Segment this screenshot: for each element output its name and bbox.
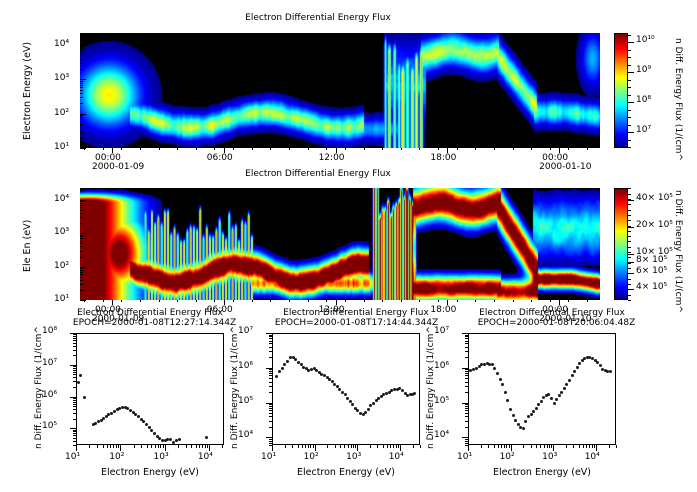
data-point xyxy=(553,402,556,405)
tick-mark xyxy=(80,97,83,98)
tick-mark xyxy=(155,445,156,448)
tick-mark xyxy=(80,87,83,88)
colorbar-tick-label: 10⁸ xyxy=(636,95,651,105)
tick-mark xyxy=(269,369,272,370)
tick-mark xyxy=(73,334,76,335)
tick-mark xyxy=(465,371,468,372)
tick-mark xyxy=(344,445,345,448)
tick-mark xyxy=(207,445,208,448)
tick-mark xyxy=(80,148,86,149)
tick-mark xyxy=(540,445,541,448)
tick-mark xyxy=(80,236,83,237)
tick-mark xyxy=(553,445,554,451)
tick-mark xyxy=(465,351,468,352)
tick-mark xyxy=(475,300,476,302)
tick-mark xyxy=(110,445,111,448)
tick-mark xyxy=(628,72,631,73)
tick-mark xyxy=(628,231,631,232)
tick-mark xyxy=(191,445,192,448)
tick-mark xyxy=(80,93,83,94)
tick-mark xyxy=(513,300,514,302)
tick-mark xyxy=(80,203,83,204)
tick-mark xyxy=(80,235,83,236)
tick-mark xyxy=(80,90,83,91)
data-point xyxy=(512,414,515,417)
data-point xyxy=(501,383,504,386)
data-point xyxy=(499,378,502,381)
tick-mark xyxy=(73,350,76,351)
figure-canvas: Electron Differential Energy Flux Electr… xyxy=(0,0,697,492)
tick-mark xyxy=(383,445,384,448)
tick-mark xyxy=(159,300,160,302)
tick-mark xyxy=(628,241,631,242)
spectrum-xtick-label: 10² xyxy=(109,452,124,462)
tick-mark xyxy=(628,220,631,221)
data-point xyxy=(532,410,535,413)
spectrum-ytick-label: 10⁶ xyxy=(434,361,449,371)
spectrum-epoch-3: EPOCH=2000-01-08T20:06:04.48Z xyxy=(460,318,653,328)
data-point xyxy=(286,360,289,363)
tick-mark xyxy=(84,148,85,150)
spectrum-ytick-label: 10⁷ xyxy=(238,326,253,336)
spectrum-xlabel-3: Electron Energy (eV) xyxy=(462,467,622,478)
tick-mark xyxy=(628,50,631,51)
tick-mark xyxy=(628,284,631,285)
spectrum-xtick-label: 10¹ xyxy=(457,452,472,462)
data-point xyxy=(558,394,561,397)
tick-mark xyxy=(589,445,590,448)
tick-mark xyxy=(80,241,83,242)
tick-mark xyxy=(269,382,272,383)
tick-mark xyxy=(272,445,273,451)
tick-mark xyxy=(465,410,468,411)
tick-mark xyxy=(269,439,272,440)
tick-mark xyxy=(457,148,458,150)
tick-mark xyxy=(113,445,114,448)
tick-mark xyxy=(80,85,83,86)
tick-mark xyxy=(270,300,271,302)
tick-mark xyxy=(579,445,580,448)
tick-mark xyxy=(401,300,402,302)
tick-mark xyxy=(269,343,272,344)
tick-mark xyxy=(628,102,631,103)
tick-mark xyxy=(151,445,152,448)
spectrum-ytick-label: 10⁴ xyxy=(238,430,253,440)
tick-mark xyxy=(196,148,197,150)
tick-mark xyxy=(202,445,203,448)
tick-mark xyxy=(628,257,631,258)
tick-mark xyxy=(80,290,83,291)
colorbar-tick-label: 20× 10⁵ xyxy=(636,220,673,230)
data-point xyxy=(364,411,367,414)
tick-mark xyxy=(465,416,468,417)
tick-mark xyxy=(465,441,468,442)
tick-mark xyxy=(269,392,272,393)
tick-mark xyxy=(628,236,631,237)
tick-mark xyxy=(269,375,272,376)
tick-mark xyxy=(233,148,234,150)
tick-mark xyxy=(269,347,272,348)
tick-mark xyxy=(345,300,346,302)
tick-mark xyxy=(628,132,631,133)
tick-mark xyxy=(73,368,76,369)
data-point xyxy=(599,364,602,367)
tick-mark xyxy=(550,300,551,302)
tick-mark xyxy=(269,410,272,411)
tick-mark xyxy=(345,148,346,150)
tick-mark xyxy=(481,445,482,448)
spectrum-plot-1[interactable] xyxy=(76,333,224,445)
tick-mark xyxy=(513,148,514,150)
data-point xyxy=(281,367,284,370)
colorbar-tick-label: 40× 10⁵ xyxy=(636,193,673,203)
tick-mark xyxy=(269,371,272,372)
tick-mark xyxy=(80,35,83,36)
tick-mark xyxy=(465,357,468,358)
tick-mark xyxy=(353,445,354,448)
panel2-spectrogram[interactable] xyxy=(80,188,600,300)
tick-mark xyxy=(628,35,631,36)
tick-mark xyxy=(269,341,272,342)
tick-mark xyxy=(315,445,316,451)
tick-mark xyxy=(550,148,551,150)
tick-mark xyxy=(494,148,495,150)
tick-mark xyxy=(269,357,272,358)
tick-mark xyxy=(178,445,179,448)
tick-mark xyxy=(310,445,311,448)
tick-label: 10⁴ xyxy=(54,39,69,49)
spectrum-xtick-label: 10⁴ xyxy=(198,452,213,462)
spectrum-ytick-label: 10⁷ xyxy=(434,326,449,336)
panel1-spectrogram[interactable] xyxy=(80,33,600,148)
tick-label: 10¹ xyxy=(54,294,69,304)
tick-mark xyxy=(531,445,532,448)
tick-mark xyxy=(269,421,272,422)
data-point xyxy=(509,408,512,411)
spectrum-plot-3[interactable] xyxy=(468,333,616,445)
tick-mark xyxy=(628,300,631,301)
tick-mark xyxy=(465,373,468,374)
spectrum-xtick-label: 10⁴ xyxy=(585,452,600,462)
tick-mark xyxy=(628,227,634,228)
tick-mark xyxy=(80,268,83,269)
tick-mark xyxy=(465,443,468,444)
tick-mark xyxy=(209,445,210,451)
tick-mark xyxy=(465,408,468,409)
tick-mark xyxy=(465,406,468,407)
tick-mark xyxy=(80,81,83,82)
tick-mark xyxy=(160,445,161,448)
tick-label: 10² xyxy=(54,261,69,271)
panel1-ylabel: Electron Energy (eV) xyxy=(22,42,33,140)
tick-mark xyxy=(364,148,365,150)
tick-mark xyxy=(357,445,358,451)
tick-mark xyxy=(504,445,505,448)
tick-mark xyxy=(80,103,83,104)
tick-mark xyxy=(583,445,584,448)
tick-mark xyxy=(586,445,587,448)
tick-mark xyxy=(80,205,83,206)
tick-mark xyxy=(587,148,588,150)
data-point xyxy=(79,374,82,377)
tick-mark xyxy=(628,199,631,200)
data-point xyxy=(493,367,496,370)
tick-mark xyxy=(269,378,272,379)
tick-mark xyxy=(80,284,83,285)
tick-mark xyxy=(549,445,550,448)
spectrum-ytick-label: 10⁵ xyxy=(42,421,57,431)
tick-mark xyxy=(628,147,631,148)
tick-mark xyxy=(475,148,476,150)
tick-mark xyxy=(80,246,83,247)
spectrum-ytick-label: 10⁸ xyxy=(42,326,57,336)
tick-mark xyxy=(628,65,631,66)
tick-mark xyxy=(364,300,365,302)
data-point xyxy=(514,419,517,422)
tick-mark xyxy=(465,336,468,337)
tick-mark xyxy=(80,280,83,281)
data-point xyxy=(537,403,540,406)
tick-mark xyxy=(628,42,631,43)
tick-mark xyxy=(80,119,83,120)
tick-mark xyxy=(163,445,164,448)
tick-mark xyxy=(628,279,631,280)
tick-mark xyxy=(335,445,336,448)
tick-mark xyxy=(465,421,468,422)
tick-mark xyxy=(523,445,524,448)
tick-mark xyxy=(214,148,215,150)
tick-mark xyxy=(465,382,468,383)
data-point xyxy=(565,383,568,386)
tick-mark xyxy=(134,445,135,448)
tick-mark xyxy=(420,445,421,448)
tick-mark xyxy=(89,445,90,448)
tick-mark xyxy=(73,377,76,378)
tick-mark xyxy=(393,445,394,448)
tick-mark xyxy=(84,300,85,302)
tick-label: 10² xyxy=(54,108,69,118)
colorbar-tick-label: 10⁷ xyxy=(636,125,651,135)
tick-mark xyxy=(462,333,468,334)
tick-mark xyxy=(214,300,215,302)
tick-mark xyxy=(413,445,414,448)
tick-mark xyxy=(270,148,271,150)
tick-mark xyxy=(269,335,272,336)
tick-mark xyxy=(628,252,631,253)
tick-mark xyxy=(465,347,468,348)
tick-mark xyxy=(465,338,468,339)
panel2-colorbar xyxy=(614,188,628,300)
tick-mark xyxy=(73,374,76,375)
time-tick-label: 12:00 xyxy=(319,153,345,163)
tick-mark xyxy=(568,300,569,302)
spectrum-ylabel-1: n Diff. Energy Flux (1/(cm^ xyxy=(34,326,44,449)
tick-mark xyxy=(97,445,98,448)
spectrum-title-1: Electron Differential Energy Flux xyxy=(56,308,244,318)
tick-mark xyxy=(269,338,272,339)
tick-mark xyxy=(628,80,631,81)
tick-mark xyxy=(73,381,76,382)
data-point xyxy=(571,374,574,377)
tick-mark xyxy=(269,336,272,337)
tick-mark xyxy=(252,300,253,302)
tick-mark xyxy=(289,300,290,302)
tick-mark xyxy=(73,430,76,431)
tick-mark xyxy=(628,117,631,118)
data-point xyxy=(576,366,579,369)
data-point xyxy=(573,370,576,373)
data-point xyxy=(568,379,571,382)
tick-mark xyxy=(400,445,401,451)
tick-mark xyxy=(494,300,495,302)
data-point xyxy=(77,381,80,384)
tick-mark xyxy=(511,445,512,451)
tick-mark xyxy=(266,333,272,334)
data-point xyxy=(275,375,278,378)
tick-mark xyxy=(186,445,187,448)
time-tick-label: 18:00 xyxy=(430,153,456,163)
spectrum-xlabel-2: Electron Energy (eV) xyxy=(266,467,426,478)
data-point xyxy=(530,413,533,416)
tick-mark xyxy=(509,445,510,448)
tick-mark xyxy=(531,148,532,150)
tick-mark xyxy=(628,295,631,296)
data-point xyxy=(372,402,375,405)
tick-mark xyxy=(80,138,83,139)
tick-mark xyxy=(628,194,631,195)
tick-mark xyxy=(269,351,272,352)
tick-mark xyxy=(628,273,631,274)
tick-mark xyxy=(103,148,104,150)
tick-mark xyxy=(501,445,502,448)
tick-mark xyxy=(80,190,83,191)
tick-mark xyxy=(370,445,371,448)
spectrum-title-2: Electron Differential Energy Flux xyxy=(262,308,450,318)
spectrum-xtick-label: 10¹ xyxy=(65,452,80,462)
tick-mark xyxy=(269,386,272,387)
tick-mark xyxy=(80,55,83,56)
tick-mark xyxy=(628,140,631,141)
tick-mark xyxy=(196,445,197,448)
tick-mark xyxy=(80,210,83,211)
tick-mark xyxy=(177,148,178,150)
tick-mark xyxy=(177,300,178,302)
tick-mark xyxy=(205,445,206,448)
data-point xyxy=(367,408,370,411)
tick-mark xyxy=(326,300,327,302)
tick-mark xyxy=(80,223,83,224)
tick-mark xyxy=(269,406,272,407)
tick-mark xyxy=(80,238,83,239)
tick-mark xyxy=(387,445,388,448)
tick-mark xyxy=(398,445,399,448)
data-point xyxy=(560,391,563,394)
tick-mark xyxy=(80,213,83,214)
tick-mark xyxy=(73,404,76,405)
spectrum-title-3: Electron Differential Energy Flux xyxy=(458,308,646,318)
tick-mark xyxy=(628,226,631,227)
tick-mark xyxy=(73,355,76,356)
data-point xyxy=(578,362,581,365)
tick-mark xyxy=(76,445,77,451)
colorbar-tick-label: 10⁹ xyxy=(636,65,651,75)
tick-mark xyxy=(592,445,593,448)
spectrum-epoch-1: EPOCH=2000-01-08T12:27:14.344Z xyxy=(58,318,251,328)
tick-mark xyxy=(73,402,76,403)
tick-mark xyxy=(165,445,166,451)
tick-mark xyxy=(269,408,272,409)
tick-mark xyxy=(73,413,76,414)
tick-mark xyxy=(80,59,83,60)
tick-mark xyxy=(536,445,537,448)
tick-mark xyxy=(73,438,76,439)
tick-mark xyxy=(465,439,468,440)
tick-mark xyxy=(340,445,341,448)
tick-mark xyxy=(587,300,588,302)
spectrum-ylabel-3: n Diff. Energy Flux (1/(cm^ xyxy=(426,326,436,449)
tick-mark xyxy=(80,48,83,49)
tick-mark xyxy=(628,188,631,189)
data-point xyxy=(535,407,538,410)
data-point xyxy=(506,399,509,402)
tick-mark xyxy=(308,148,309,150)
spectrum-ytick-label: 10⁴ xyxy=(434,430,449,440)
tick-label: 10¹ xyxy=(54,142,69,152)
tick-mark xyxy=(73,336,76,337)
tick-mark xyxy=(628,268,631,269)
tick-mark xyxy=(609,445,610,448)
tick-mark xyxy=(506,445,507,448)
time-tick-label: 06:00 xyxy=(207,153,233,163)
tick-mark xyxy=(73,431,76,432)
tick-mark xyxy=(308,445,309,448)
tick-mark xyxy=(73,372,76,373)
colorbar-tick-label: 8× 10⁵ xyxy=(636,255,667,265)
tick-mark xyxy=(80,277,83,278)
tick-mark xyxy=(80,47,83,48)
spectrum-plot-2[interactable] xyxy=(272,333,420,445)
tick-mark xyxy=(80,251,83,252)
data-point xyxy=(522,427,525,430)
tick-mark xyxy=(594,445,595,448)
tick-mark xyxy=(73,419,76,420)
tick-mark xyxy=(438,300,439,302)
tick-mark xyxy=(457,300,458,302)
tick-mark xyxy=(269,373,272,374)
tick-mark xyxy=(80,79,86,80)
tick-mark xyxy=(465,375,468,376)
tick-mark xyxy=(382,148,383,150)
tick-mark xyxy=(628,87,631,88)
colorbar-tick-label: 4× 10⁵ xyxy=(636,282,667,292)
tick-mark xyxy=(438,148,439,150)
data-point xyxy=(547,393,550,396)
tick-mark xyxy=(73,398,76,399)
tick-mark xyxy=(73,441,76,442)
tick-mark xyxy=(498,445,499,448)
tick-mark xyxy=(419,300,420,302)
tick-mark xyxy=(73,370,76,371)
tick-mark xyxy=(73,406,76,407)
tick-mark xyxy=(80,53,83,54)
tick-mark xyxy=(285,445,286,448)
tick-mark xyxy=(80,233,86,234)
spectrum-xtick-label: 10³ xyxy=(542,452,557,462)
tick-mark xyxy=(465,392,468,393)
tick-mark xyxy=(628,110,631,111)
tick-mark xyxy=(73,435,76,436)
tick-mark xyxy=(107,445,108,448)
